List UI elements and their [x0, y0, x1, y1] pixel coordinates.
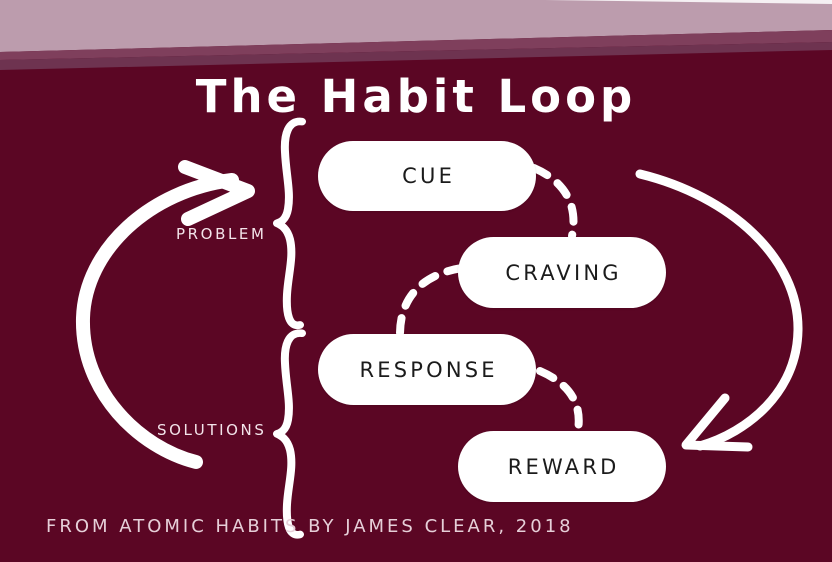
- ribbon-light-band: [0, 0, 832, 52]
- dashed-connector-craving-response: [400, 268, 462, 334]
- step-pill-response[interactable]: RESPONSE: [318, 334, 536, 405]
- dashed-connector-response-reward: [540, 371, 579, 430]
- left-arrowhead: [185, 167, 248, 219]
- dashed-connector-cue-craving: [534, 168, 573, 236]
- top-ribbon-decoration: [0, 0, 832, 70]
- page-title: The Habit Loop: [0, 68, 832, 126]
- brace-problem: [277, 121, 302, 325]
- step-label-response: RESPONSE: [356, 358, 497, 382]
- brace-solutions: [277, 333, 302, 535]
- right-arrowhead: [686, 398, 748, 447]
- habit-loop-slide: The Habit Loop CUE CRAVING RESPONSE: [0, 0, 832, 562]
- ribbon-white-wedge: [0, 0, 832, 26]
- step-label-cue: CUE: [399, 164, 455, 188]
- step-pill-reward[interactable]: REWARD: [458, 431, 666, 502]
- left-loop-arc: [83, 180, 232, 462]
- step-pill-craving[interactable]: CRAVING: [458, 237, 666, 308]
- right-loop-arc: [640, 174, 798, 446]
- ribbon-white-top-right: [545, 0, 832, 22]
- ribbon-mid-band: [0, 30, 832, 60]
- step-label-craving: CRAVING: [502, 261, 622, 285]
- ribbon-mid-band-lower: [0, 42, 832, 70]
- group-label-problem: PROBLEM: [176, 225, 267, 243]
- step-label-reward: REWARD: [505, 455, 620, 479]
- source-credit: FROM ATOMIC HABITS BY JAMES CLEAR, 2018: [46, 516, 574, 537]
- group-label-solutions: SOLUTIONS: [157, 421, 266, 439]
- step-pill-cue[interactable]: CUE: [318, 141, 536, 211]
